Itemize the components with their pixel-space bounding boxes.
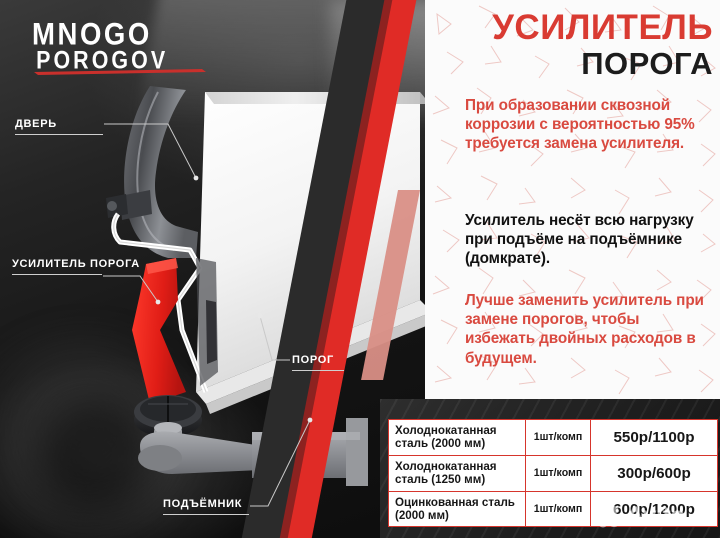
row-price: 300р/600р bbox=[591, 455, 718, 491]
callout-door-label: ДВЕРЬ bbox=[15, 118, 57, 130]
row-quantity: 1шт/комп bbox=[526, 491, 591, 527]
callout-sill-label: ПОРОГ bbox=[292, 354, 334, 366]
callout-lift: ПОДЪЁМНИК bbox=[163, 498, 249, 515]
row-quantity: 1шт/комп bbox=[526, 420, 591, 456]
callout-underline bbox=[12, 274, 102, 275]
avito-logo-icon bbox=[596, 503, 622, 529]
callout-reinforcement-label: УСИЛИТЕЛЬ ПОРОГА bbox=[12, 258, 140, 270]
promo-banner: УСИЛИТЕЛЬ ПОРОГА При образовании сквозно… bbox=[0, 0, 720, 538]
avito-watermark: Avito bbox=[596, 503, 685, 529]
brand-logo: MNOGO POROGOV bbox=[30, 14, 210, 76]
callout-underline bbox=[15, 134, 103, 135]
logo-text-line2: POROGOV bbox=[36, 46, 168, 74]
callout-underline bbox=[292, 370, 344, 371]
callout-door: ДВЕРЬ bbox=[15, 118, 103, 135]
callout-underline bbox=[163, 514, 249, 515]
paragraph-advice: Лучше заменить усилитель при замене поро… bbox=[465, 291, 713, 368]
callout-reinforcement: УСИЛИТЕЛЬ ПОРОГА bbox=[12, 258, 140, 275]
callout-lift-label: ПОДЪЁМНИК bbox=[163, 498, 242, 510]
row-price: 550р/1100р bbox=[591, 420, 718, 456]
row-quantity: 1шт/комп bbox=[526, 455, 591, 491]
headline-line2: ПОРОГА bbox=[455, 47, 713, 81]
paragraph-load: Усилитель несёт всю нагрузку при подъёме… bbox=[465, 211, 713, 269]
paragraph-corrosion: При образовании сквозной коррозии с веро… bbox=[465, 96, 713, 154]
page-title: УСИЛИТЕЛЬ ПОРОГА bbox=[455, 10, 713, 81]
avito-watermark-text: Avito bbox=[626, 504, 685, 529]
headline-line1: УСИЛИТЕЛЬ bbox=[455, 10, 713, 46]
callout-sill: ПОРОГ bbox=[292, 354, 344, 371]
